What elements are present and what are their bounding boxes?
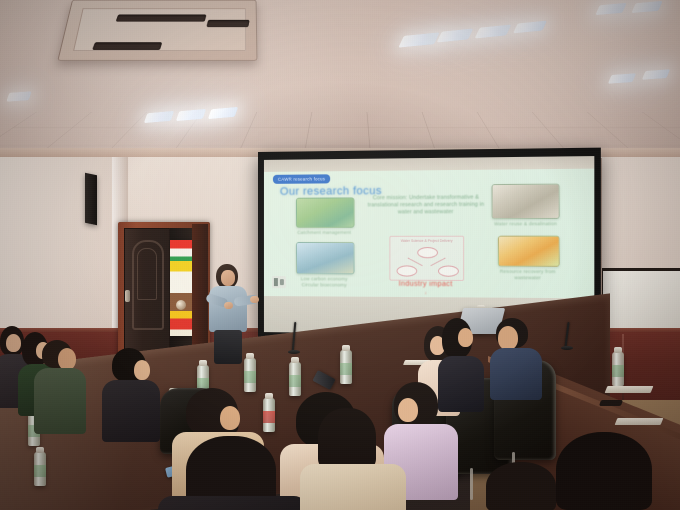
bottle-cap <box>246 353 254 359</box>
door-jamb <box>192 224 208 362</box>
slide-breadcrumb-tab: CAWR research focus <box>273 174 330 184</box>
ac-vent-icon <box>206 20 249 27</box>
diagram-node-water <box>417 247 438 258</box>
slide-industry-impact-sub: ↓ <box>365 290 488 296</box>
bottle-cap <box>342 345 350 351</box>
presentation-room-photo: CAWR research focus Our research focus C… <box>0 0 680 510</box>
door-handle[interactable] <box>125 290 130 302</box>
bottle-label <box>263 411 275 423</box>
slide-card-lowcarbon-image <box>296 242 355 274</box>
person-head <box>6 334 21 352</box>
presenter-legs <box>214 330 242 364</box>
slide-card-catchment-caption: Catchment management <box>288 230 361 236</box>
person-torso <box>102 380 160 442</box>
bottle-label <box>289 375 301 387</box>
diagram-node-energy <box>397 265 418 276</box>
slide-core-mission-text: Core mission: Undertake transformative &… <box>365 194 488 217</box>
presentation-slide: CAWR research focus Our research focus C… <box>264 169 594 299</box>
water-bottle[interactable] <box>263 398 275 432</box>
table-microphone-base <box>288 350 300 354</box>
poster-photo-icon <box>176 300 186 310</box>
safety-notice-poster <box>170 240 192 336</box>
person-head <box>498 326 518 350</box>
slide-card-resourcerecovery-image <box>498 236 560 267</box>
person-hair <box>556 432 652 510</box>
person-hair <box>318 408 376 470</box>
person-head <box>220 406 240 430</box>
bottle-label <box>244 371 256 383</box>
slide-industry-impact-label: Industry impact <box>365 280 488 288</box>
bottle-cap <box>614 347 622 353</box>
diagram-connector <box>430 258 445 267</box>
ac-inner-panel <box>73 8 246 51</box>
slide-card-resourcerecovery-caption: Resource recovery from wastewater <box>483 269 573 282</box>
slide-mini-diagram: Water Science & Project Delivery <box>389 236 464 281</box>
water-bottle[interactable] <box>612 352 624 386</box>
diagram-node-waste <box>438 265 459 276</box>
table-microphone-base <box>561 346 573 350</box>
chair-leg <box>470 468 473 500</box>
remote-control[interactable] <box>599 400 623 406</box>
ac-vent-icon <box>116 14 207 21</box>
water-bottle[interactable] <box>244 358 256 392</box>
door-panel-carving-inner <box>137 248 157 300</box>
slide-institution-logo <box>272 276 286 288</box>
person-head <box>58 348 76 370</box>
presenter-right-hand <box>250 296 259 303</box>
air-conditioner-unit <box>57 0 257 61</box>
bottle-label <box>340 363 352 375</box>
bottle-label <box>612 365 624 377</box>
wall-speaker <box>85 173 97 226</box>
bottle-cap <box>36 447 44 453</box>
presenter-face <box>221 270 235 286</box>
logo-mark-right <box>280 279 284 285</box>
person-torso <box>34 368 86 434</box>
water-bottle[interactable] <box>34 452 46 486</box>
bottle-label <box>34 465 46 477</box>
document-on-table[interactable] <box>615 418 664 425</box>
person-head <box>458 328 473 347</box>
person-hair <box>486 462 556 510</box>
presenter-left-hand <box>224 302 233 309</box>
water-bottle[interactable] <box>289 362 301 396</box>
presenter-torso <box>209 286 247 332</box>
person-torso <box>490 348 542 400</box>
slide-mini-diagram-caption: Water Science & Project Delivery <box>397 239 457 243</box>
slide-card-lowcarbon-caption: Low carbon economy Circular bioeconomy <box>286 276 363 288</box>
document-on-table[interactable] <box>605 386 654 393</box>
bottle-cap <box>265 393 273 399</box>
ac-vent-icon <box>92 42 162 50</box>
slide-card-waterreuse-caption: Water reuse & desalination <box>483 221 568 227</box>
slide-card-catchment-image <box>296 197 355 228</box>
slide-top-bar <box>264 169 594 172</box>
water-bottle[interactable] <box>340 350 352 384</box>
person-torso <box>438 356 484 412</box>
slide-card-waterreuse-image <box>492 184 560 220</box>
bottle-cap <box>199 360 207 366</box>
person-torso <box>300 464 406 510</box>
bottle-cap <box>291 357 299 363</box>
logo-mark-left <box>274 278 278 286</box>
person-torso <box>158 496 308 510</box>
person-head <box>134 360 150 380</box>
person-head <box>398 398 418 422</box>
